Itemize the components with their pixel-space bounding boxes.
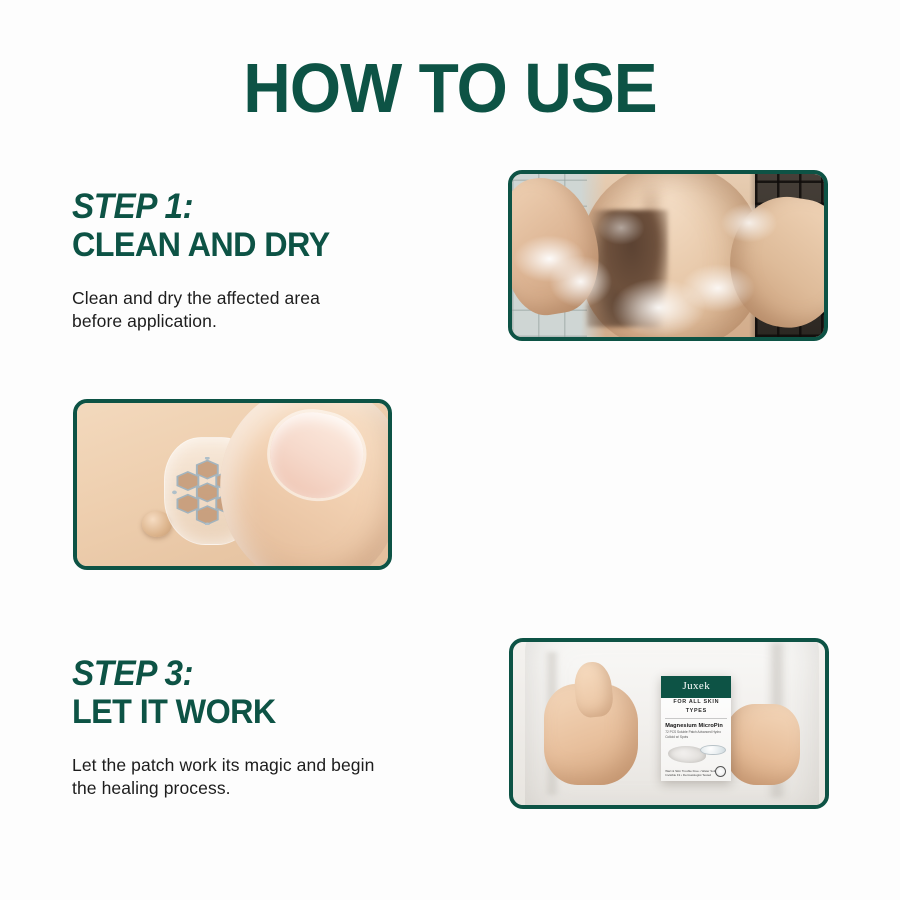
step-1-headline: CLEAN AND DRY xyxy=(72,225,452,265)
package-artwork xyxy=(665,742,727,769)
product-package: Juxek FOR ALL SKIN TYPES Magnesium Micro… xyxy=(661,676,731,780)
step-3-body-line-1: Let the patch work its magic and begin xyxy=(72,754,502,777)
package-brand: Juxek xyxy=(661,676,731,698)
package-product-sub: 72 PCS Soluble Patch Advanced Hydro Coll… xyxy=(665,730,727,739)
step-2-photo xyxy=(77,403,388,566)
step-1-body: Clean and dry the affected area before a… xyxy=(72,287,472,333)
package-magnifier-detail xyxy=(700,745,726,756)
step-3-eyebrow: STEP 3: xyxy=(72,655,481,692)
step-3-photo: Juxek FOR ALL SKIN TYPES Magnesium Micro… xyxy=(513,642,825,805)
step-1-eyebrow: STEP 1: xyxy=(72,188,452,225)
how-to-use-infographic: HOW TO USE STEP 1: CLEAN AND DRY Clean a… xyxy=(0,0,900,900)
soap-foam xyxy=(512,174,824,337)
step-1-body-line-1: Clean and dry the affected area xyxy=(72,287,472,310)
hand-holding-package xyxy=(725,704,800,786)
step-3-photo-frame: Juxek FOR ALL SKIN TYPES Magnesium Micro… xyxy=(509,638,829,809)
step-1-photo xyxy=(512,174,824,337)
step-3-body: Let the patch work its magic and begin t… xyxy=(72,754,502,800)
step-1-photo-frame xyxy=(508,170,828,341)
step-2-photo-frame xyxy=(73,399,392,570)
page-title: HOW TO USE xyxy=(27,52,873,124)
step-1-text: STEP 1: CLEAN AND DRY Clean and dry the … xyxy=(72,188,472,333)
step-3-body-line-2: the healing process. xyxy=(72,777,502,800)
package-tagline: FOR ALL SKIN TYPES xyxy=(665,698,727,719)
package-certification-seal-icon xyxy=(715,766,726,777)
step-1-body-line-2: before application. xyxy=(72,310,472,333)
step-3-headline: LET IT WORK xyxy=(72,692,481,732)
package-product-name: Magnesium MicroPin xyxy=(665,723,727,729)
step-3-text: STEP 3: LET IT WORK Let the patch work i… xyxy=(72,655,502,800)
